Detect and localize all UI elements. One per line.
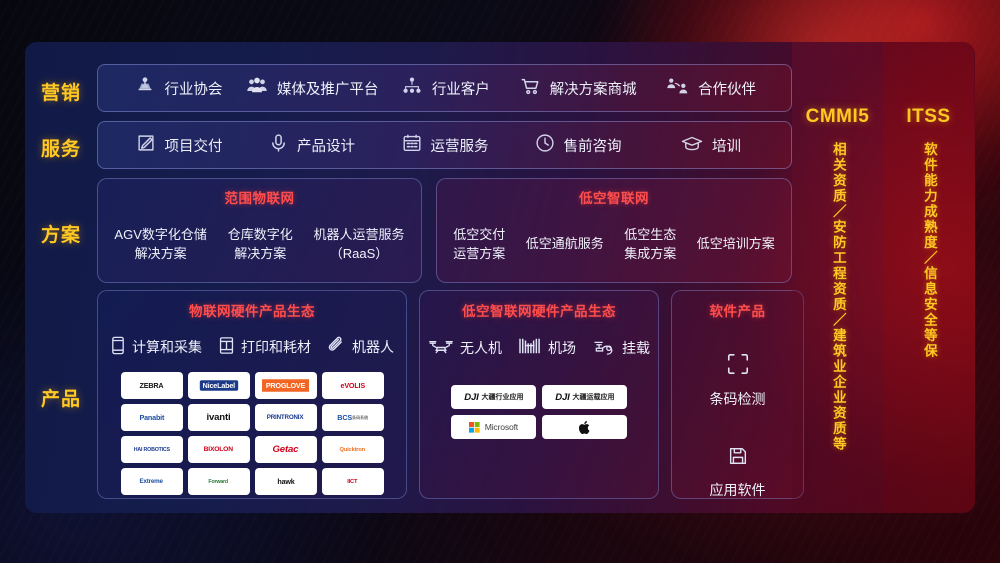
marketing-row: 行业协会 媒体及推广平台 [97, 64, 792, 112]
service-item-presales-consulting[interactable]: 售前咨询 [511, 132, 644, 158]
apple-logo-icon [578, 420, 591, 435]
people-group-icon [245, 75, 269, 101]
category-label-service: 服务 [25, 134, 97, 161]
logo-label: PROGLOVE [262, 379, 309, 391]
logo-label: Panabit [139, 413, 164, 422]
solution-item[interactable]: 低空生态 集成方案 [620, 226, 680, 264]
logo-cell[interactable]: Forward [188, 468, 250, 495]
solution-item[interactable]: 低空通航服务 [522, 235, 608, 254]
mobile-device-icon [110, 336, 126, 358]
logo-label: NiceLabel [199, 380, 237, 391]
marketing-item-industry-association[interactable]: 行业协会 [112, 75, 245, 101]
logo-label: Forward [209, 479, 228, 485]
product-category-label: 机场 [548, 338, 576, 358]
product-category-robot[interactable]: 机器人 [327, 336, 394, 358]
product-category-payload[interactable]: 挂载 [592, 337, 650, 358]
marketing-item-label: 媒体及推广平台 [277, 78, 379, 99]
service-item-label: 运营服务 [431, 135, 489, 156]
logo-cell[interactable]: ZEBRA [121, 372, 183, 399]
marketing-item-label: 合作伙伴 [698, 78, 756, 99]
product-category-label: 无人机 [460, 338, 502, 358]
dock-station-icon [518, 336, 542, 359]
certification-name: CMMI5 [806, 106, 870, 128]
service-item-operation-service[interactable]: 运营服务 [378, 132, 511, 158]
pencil-square-icon [135, 132, 157, 158]
logo-cell[interactable]: NiceLabel [188, 372, 250, 399]
logo-label: hawk [277, 477, 294, 486]
logo-label: Quicktron [340, 447, 365, 453]
software-item-barcode-detection[interactable]: 条码检测 [710, 352, 766, 409]
logo-cell[interactable]: Quicktron [322, 436, 384, 463]
payload-gimbal-icon [592, 337, 616, 358]
software-item-application-software[interactable]: 应用软件 [710, 445, 766, 500]
marketing-item-industry-customer[interactable]: 行业客户 [378, 75, 511, 101]
solutions-row: 范围物联网 AGV数字化仓储 解决方案 仓库数字化 解决方案 机器人运营服务 （… [97, 178, 792, 283]
clock-icon [534, 132, 556, 158]
microsoft-logo-icon [469, 422, 480, 433]
logo-cell[interactable]: ivanti [188, 404, 250, 431]
service-item-project-delivery[interactable]: 项目交付 [112, 132, 245, 158]
service-item-label: 售前咨询 [564, 135, 622, 156]
solution-item[interactable]: 机器人运营服务 （RaaS） [310, 226, 409, 264]
product-category-compute-capture[interactable]: 计算和采集 [110, 336, 202, 358]
product-group-low-altitude-hardware: 低空智联网硬件产品生态 无人机 [419, 290, 659, 499]
barcode-scan-frame-icon [726, 352, 750, 381]
marketing-item-partners[interactable]: 合作伙伴 [644, 75, 777, 101]
marketing-item-solution-mall[interactable]: 解决方案商城 [511, 75, 644, 101]
product-group-title: 低空智联网硬件产品生态 [462, 300, 616, 320]
product-group-iot-hardware: 物联网硬件产品生态 计算和采集 [97, 290, 407, 499]
logo-cell[interactable]: PRINTRONIX [255, 404, 317, 431]
logo-cell[interactable]: BIXOLON [188, 436, 250, 463]
logo-label: BIXOLON [204, 446, 233, 453]
service-row: 项目交付 产品设计 [97, 121, 792, 169]
logo-label: Getac [273, 444, 299, 455]
logo-label: ivanti [207, 412, 231, 423]
certification-column-itss: ITSS 软件能力成熟度／信息安全等保 [883, 42, 974, 513]
logo-label: Microsoft [484, 422, 517, 432]
logo-cell[interactable] [542, 415, 627, 439]
product-category-label: 机器人 [352, 337, 394, 357]
iot-logo-grid: ZEBRA NiceLabel PROGLOVE eVOLIS Panabit … [121, 372, 384, 495]
software-item-label: 条码检测 [710, 389, 766, 409]
logo-cell[interactable]: PROGLOVE [255, 372, 317, 399]
logo-cell[interactable]: hawk [255, 468, 317, 495]
product-group-title: 物联网硬件产品生态 [189, 300, 315, 320]
logo-label: Extreme [140, 478, 163, 485]
product-category-drone[interactable]: 无人机 [428, 337, 502, 358]
marketing-item-media-promotion[interactable]: 媒体及推广平台 [245, 75, 379, 101]
logo-label: PRINTRONIX [267, 414, 304, 421]
solution-item[interactable]: 低空培训方案 [693, 235, 779, 254]
logo-label: HAI ROBOTICS [133, 447, 169, 453]
product-category-label: 挂载 [622, 338, 650, 358]
logo-cell[interactable]: Microsoft [451, 415, 536, 439]
category-label-solution: 方案 [25, 220, 97, 247]
service-item-label: 培训 [712, 135, 741, 156]
product-category-label: 打印和耗材 [241, 337, 311, 357]
speaker-podium-icon [134, 75, 156, 101]
solution-group-title: 范围物联网 [225, 187, 295, 207]
service-item-label: 项目交付 [165, 135, 223, 156]
service-item-product-design[interactable]: 产品设计 [245, 132, 378, 158]
category-label-marketing: 营销 [25, 78, 97, 105]
paperclip-robot-icon [327, 336, 346, 358]
handshake-partners-icon [665, 75, 690, 101]
logo-cell[interactable]: eVOLIS [322, 372, 384, 399]
certification-column-cmmi5: CMMI5 相关资质／安防工程资质／建筑业企业资质等 [792, 42, 883, 513]
product-category-label: 计算和采集 [132, 337, 202, 357]
microphone-icon [268, 132, 289, 158]
solution-group-low-altitude: 低空智联网 低空交付 运营方案 低空通航服务 低空生态 集成方案 低空培训方案 [436, 178, 792, 283]
products-row: 物联网硬件产品生态 计算和采集 [97, 290, 792, 499]
low-altitude-logo-grid: DJI 大疆行业应用 DJI 大疆运载应用 Microsoft [451, 385, 627, 439]
logo-cell[interactable]: BCS条码系统 [322, 404, 384, 431]
drone-icon [428, 337, 454, 358]
product-group-title: 软件产品 [710, 300, 766, 320]
service-item-label: 产品设计 [297, 135, 355, 156]
graduation-cap-icon [680, 132, 704, 158]
logo-label: eVOLIS [340, 381, 364, 390]
logo-cell[interactable]: Getac [255, 436, 317, 463]
product-group-software: 软件产品 条码检测 [671, 290, 804, 499]
product-category-dock[interactable]: 机场 [518, 336, 576, 359]
logo-cell[interactable]: DJI 大疆运载应用 [542, 385, 627, 409]
logo-cell[interactable]: Extreme [121, 468, 183, 495]
logo-cell[interactable]: HAI ROBOTICS [121, 436, 183, 463]
certification-description: 软件能力成熟度／信息安全等保 [921, 142, 936, 359]
marketing-item-label: 解决方案商城 [550, 78, 637, 99]
logo-sublabel: 条码系统 [352, 415, 368, 421]
logo-cell[interactable]: DJI 大疆行业应用 [451, 385, 536, 409]
logo-label: BCS [337, 413, 352, 422]
certification-name: ITSS [906, 106, 950, 128]
shopping-cart-icon [519, 75, 542, 101]
solution-item[interactable]: 仓库数字化 解决方案 [224, 226, 297, 264]
logo-sublabel: 大疆行业应用 [481, 392, 523, 402]
service-item-training[interactable]: 培训 [644, 132, 777, 158]
logo-label: DJI [464, 392, 478, 403]
category-label-product: 产品 [25, 384, 97, 411]
solution-group-iot: 范围物联网 AGV数字化仓储 解决方案 仓库数字化 解决方案 机器人运营服务 （… [97, 178, 422, 283]
printer-roll-icon [218, 336, 235, 358]
network-users-icon [400, 75, 424, 101]
certification-description: 相关资质／安防工程资质／建筑业企业资质等 [830, 142, 845, 452]
logo-label: DJI [555, 392, 569, 403]
product-category-printing-consumables[interactable]: 打印和耗材 [218, 336, 311, 358]
calendar-icon [401, 132, 423, 158]
logo-label: ZEBRA [140, 381, 164, 390]
logo-cell[interactable]: IICT [322, 468, 384, 495]
software-item-label: 应用软件 [710, 480, 766, 500]
floppy-disk-icon [727, 445, 749, 472]
solution-item[interactable]: AGV数字化仓储 解决方案 [110, 226, 210, 264]
architecture-board: 营销 服务 方案 产品 行业协会 [25, 42, 975, 513]
solution-item[interactable]: 低空交付 运营方案 [449, 226, 509, 264]
logo-sublabel: 大疆运载应用 [572, 392, 614, 402]
solution-group-title: 低空智联网 [579, 187, 649, 207]
logo-cell[interactable]: Panabit [121, 404, 183, 431]
marketing-item-label: 行业协会 [164, 78, 222, 99]
logo-label: IICT [347, 479, 357, 485]
marketing-item-label: 行业客户 [432, 78, 490, 99]
